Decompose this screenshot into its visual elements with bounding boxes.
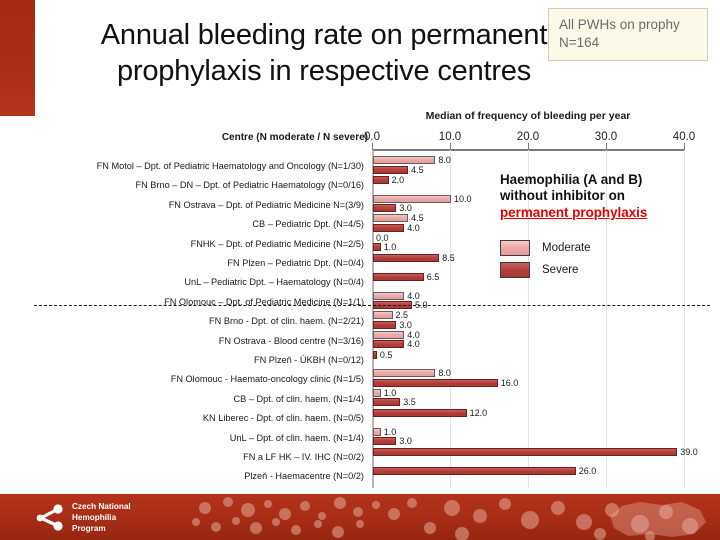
hemophilia-logo-icon xyxy=(36,504,66,532)
bar-moderate xyxy=(373,311,393,319)
bar-value-severe: 3.0 xyxy=(399,436,412,446)
category-label: FN Olomouc - Haemato-oncology clinic (N=… xyxy=(171,374,364,384)
legend-item-severe: Severe xyxy=(500,262,591,278)
group-divider xyxy=(34,305,710,306)
bar-severe xyxy=(373,398,400,406)
x-axis-tick-label: 30.0 xyxy=(595,131,617,143)
bar-severe xyxy=(373,409,467,417)
bar-severe xyxy=(373,166,408,174)
bar-value-moderate: 4.0 xyxy=(407,330,420,340)
bar-severe xyxy=(373,351,377,359)
category-label: FN Brno - Dpt. of clin. haem. (N=2/21) xyxy=(209,316,364,326)
category-label: CB – Pediatric Dpt. (N=4/5) xyxy=(252,219,364,229)
bar-value-severe: 39.0 xyxy=(680,447,698,457)
bar-value-severe: 1.0 xyxy=(384,242,397,252)
x-axis-tick-mark xyxy=(372,143,374,150)
annotation-line-1: Haemophilia (A and B) xyxy=(500,172,710,188)
bar-value-severe: 4.5 xyxy=(411,165,424,175)
category-label: Plzeň - Haemacentre (N=0/2) xyxy=(244,471,364,481)
bar-value-severe: 26.0 xyxy=(579,466,597,476)
bar-severe xyxy=(373,273,424,281)
category-label: CB – Dpt. of clin. haem. (N=1/4) xyxy=(234,394,364,404)
bar-value-moderate: 10.0 xyxy=(454,194,472,204)
bar-moderate xyxy=(373,369,435,377)
bar-value-severe: 12.0 xyxy=(470,408,488,418)
x-axis-tick-mark xyxy=(606,143,608,150)
x-axis-tick-labels: 0.010.020.030.040.0 xyxy=(0,131,720,147)
bar-moderate xyxy=(373,331,404,339)
legend-item-moderate: Moderate xyxy=(500,240,591,256)
bar-value-moderate: 4.0 xyxy=(407,291,420,301)
bar-moderate xyxy=(373,428,381,436)
left-accent-bar xyxy=(0,0,35,116)
bar-severe xyxy=(373,254,439,262)
bar-severe xyxy=(373,243,381,251)
bar-value-moderate: 0.0 xyxy=(376,233,389,243)
x-axis-tick-mark xyxy=(684,143,686,150)
x-axis-tick-mark xyxy=(528,143,530,150)
category-label: KN Liberec - Dpt. of clin. haem. (N=0/5) xyxy=(203,413,364,423)
bar-moderate xyxy=(373,214,408,222)
bar-severe xyxy=(373,379,498,387)
bar-value-severe: 16.0 xyxy=(501,378,519,388)
annotation-line-3: permanent prophylaxis xyxy=(500,205,710,221)
bar-severe xyxy=(373,340,404,348)
bar-severe xyxy=(373,448,677,456)
x-axis-tick-label: 20.0 xyxy=(517,131,539,143)
category-label: UnL – Pediatric Dpt. – Haematology (N=0/… xyxy=(184,277,364,287)
bar-value-moderate: 8.0 xyxy=(438,155,451,165)
bar-severe xyxy=(373,224,404,232)
category-label: FN a LF HK – IV. IHC (N=0/2) xyxy=(243,452,364,462)
bar-value-moderate: 2.5 xyxy=(396,310,409,320)
bar-value-severe: 6.5 xyxy=(427,272,440,282)
x-axis-tick-mark xyxy=(450,143,452,150)
logo-text: Czech National Hemophilia Program xyxy=(72,502,131,535)
czech-map-icon xyxy=(602,496,712,540)
logo-line-1: Czech National xyxy=(72,502,131,513)
legend-label-severe: Severe xyxy=(542,264,578,276)
bar-value-moderate: 1.0 xyxy=(384,427,397,437)
bar-value-severe: 0.5 xyxy=(380,350,393,360)
x-axis-tick-label: 10.0 xyxy=(439,131,461,143)
bar-value-severe: 3.0 xyxy=(399,320,412,330)
category-label: FN Plzeň - ÚKBH (N=0/12) xyxy=(254,355,364,365)
bar-value-moderate: 1.0 xyxy=(384,388,397,398)
callout-line-2: N=164 xyxy=(559,34,697,52)
bar-severe xyxy=(373,467,576,475)
category-label: FN Brno – DN – Dpt. of Pediatric Haemato… xyxy=(135,180,364,190)
category-label: FNHK – Dpt. of Pediatric Medicine (N=2/5… xyxy=(191,239,364,249)
category-label: FN Motol – Dpt. of Pediatric Haematology… xyxy=(97,161,364,171)
callout-box: All PWHs on prophy N=164 xyxy=(548,8,708,61)
callout-line-1: All PWHs on prophy xyxy=(559,16,697,34)
bar-moderate xyxy=(373,195,451,203)
x-axis-tick-label: 0.0 xyxy=(364,131,380,143)
logo-line-2: Hemophilia xyxy=(72,513,131,524)
slide-canvas: Annual bleeding rate on permanent prophy… xyxy=(0,0,720,540)
category-label: FN Ostrava – Dpt. of Pediatric Medicine … xyxy=(169,200,364,210)
bar-severe xyxy=(373,321,396,329)
bar-severe xyxy=(373,437,396,445)
bar-value-severe: 3.0 xyxy=(399,203,412,213)
bar-severe xyxy=(373,176,389,184)
bar-value-moderate: 4.5 xyxy=(411,213,424,223)
bar-value-severe: 2.0 xyxy=(392,175,405,185)
bar-value-severe: 4.0 xyxy=(407,339,420,349)
category-label: FN Ostrava - Blood centre (N=3/16) xyxy=(219,336,364,346)
category-label: UnL – Dpt. of clin. haem. (N=1/4) xyxy=(230,433,364,443)
chart-legend: Moderate Severe xyxy=(500,240,591,284)
legend-swatch-moderate-icon xyxy=(500,240,530,256)
category-label: FN Plzen – Pediatric Dpt. (N=0/4) xyxy=(227,258,364,268)
bar-moderate xyxy=(373,292,404,300)
side-annotation: Haemophilia (A and B) without inhibitor … xyxy=(500,172,710,221)
page-title: Annual bleeding rate on permanent prophy… xyxy=(44,18,604,90)
bar-value-severe: 4.0 xyxy=(407,223,420,233)
footer-banner: Czech National Hemophilia Program xyxy=(0,494,720,540)
chart: Median of frequency of bleeding per year… xyxy=(0,110,720,492)
bar-value-severe: 8.5 xyxy=(442,253,455,263)
bar-moderate xyxy=(373,156,435,164)
bar-moderate xyxy=(373,389,381,397)
bar-value-severe: 3.5 xyxy=(403,397,416,407)
legend-label-moderate: Moderate xyxy=(542,242,591,254)
logo-line-3: Program xyxy=(72,524,131,535)
x-axis-tick-label: 40.0 xyxy=(673,131,695,143)
bar-value-moderate: 8.0 xyxy=(438,368,451,378)
legend-swatch-severe-icon xyxy=(500,262,530,278)
annotation-line-2: without inhibitor on xyxy=(500,188,710,204)
bar-severe xyxy=(373,204,396,212)
organization-logo: Czech National Hemophilia Program xyxy=(36,502,131,535)
x-axis-title: Median of frequency of bleeding per year xyxy=(372,110,684,122)
